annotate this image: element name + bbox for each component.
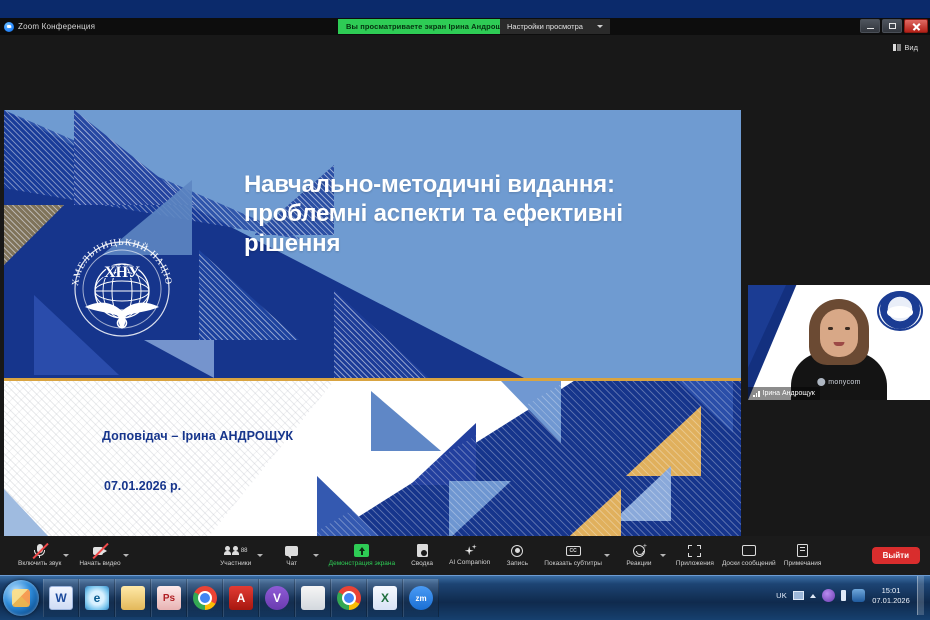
taskbar-item-file-explorer[interactable] (115, 579, 151, 617)
participants-icon: 88 (221, 544, 251, 558)
toolbar-item-apps[interactable]: Приложения (672, 536, 718, 575)
toolbar-label-whiteboards: Доски сообщений (722, 561, 776, 568)
zoom-meeting-window: Zoom Конференция Вы просматриваете экран… (0, 18, 930, 575)
slide-title: Навчально-методичні видання: проблемні а… (244, 170, 724, 258)
toolbar-item-whiteboards[interactable]: Доски сообщений (718, 536, 780, 575)
windows-taskbar: W e Ps A V X zm UK (0, 575, 930, 620)
show-desktop-button[interactable] (917, 576, 924, 615)
toolbar-label-video: Начать видео (79, 561, 120, 568)
view-button-label: Вид (904, 43, 918, 52)
microphone-muted-icon (32, 544, 48, 558)
participants-options-caret-icon[interactable] (257, 554, 263, 557)
clock-time: 15:01 (882, 586, 901, 595)
toolbar-label-captions: Показать субтитры (544, 561, 602, 568)
toolbar-item-share-screen[interactable]: Демонстрация экрана (325, 536, 399, 575)
summary-icon (417, 544, 428, 557)
reactions-options-caret-icon[interactable] (660, 554, 666, 557)
taskbar-item-viber[interactable]: V (259, 579, 295, 617)
chrome-second-icon (337, 586, 361, 610)
clock-date: 07.01.2026 (872, 596, 910, 605)
person-eye-right (845, 327, 850, 330)
toolbar-item-summary[interactable]: Сводка (399, 536, 445, 575)
view-settings-button[interactable]: Настройки просмотра (500, 19, 610, 34)
video-watermark: monycom (817, 378, 860, 386)
shared-screen-slide[interactable]: ХМЕЛЬНИЦЬКИЙ НАЦІОНАЛЬНИЙ УНІВЕРСИТЕТ ХН… (4, 110, 741, 553)
toolbar-label-summary: Сводка (411, 561, 433, 568)
closed-captions-icon: CC (566, 546, 581, 556)
layout-view-icon (893, 44, 901, 51)
captions-options-caret-icon[interactable] (604, 554, 610, 557)
toolbar-label-reactions: Реакции (626, 561, 651, 568)
tray-battery-icon[interactable] (841, 590, 846, 601)
video-muted-icon (92, 544, 108, 558)
toolbar-label-ai-companion: AI Companion (449, 560, 490, 567)
notes-icon (797, 544, 808, 557)
toolbar-item-video[interactable]: Начать видео (75, 536, 124, 575)
keyboard-language-indicator[interactable]: UK (776, 591, 787, 600)
toolbar-item-chat[interactable]: Чат (269, 536, 315, 575)
close-button[interactable] (904, 19, 928, 33)
person-face (820, 309, 858, 357)
slide-speaker-line: Доповідач – Ірина АНДРОЩУК (102, 429, 293, 443)
toolbar-item-reactions[interactable]: + Реакции (616, 536, 662, 575)
leave-meeting-button[interactable]: Выйти (872, 547, 920, 564)
zoom-taskbar-icon: zm (409, 586, 433, 610)
signal-strength-icon (753, 390, 760, 397)
system-tray: UK 15:01 07.01.2026 (776, 576, 930, 615)
hnu-university-logo-icon: ХМЕЛЬНИЦЬКИЙ НАЦІОНАЛЬНИЙ УНІВЕРСИТЕТ ХН… (61, 213, 183, 353)
paint-icon (301, 586, 325, 610)
titlebar-left: Zoom Конференция (0, 22, 95, 32)
toolbar-label-mute: Включить звук (18, 561, 61, 568)
chat-options-caret-icon[interactable] (313, 554, 319, 557)
person-mouth (834, 342, 845, 346)
svg-text:ХНУ: ХНУ (104, 264, 140, 281)
window-title: Zoom Конференция (18, 22, 95, 31)
internet-explorer-icon: e (85, 586, 109, 610)
watermark-dot-icon (817, 378, 825, 386)
toolbar-label-record: Запись (507, 561, 528, 568)
toolbar-item-ai-companion[interactable]: AI Companion (445, 536, 494, 575)
toolbar-label-apps: Приложения (676, 561, 714, 568)
excel-icon: X (373, 586, 397, 610)
slide-date-line: 07.01.2026 р. (104, 479, 181, 493)
slide-lower-panel: Доповідач – Ірина АНДРОЩУК 07.01.2026 р. (4, 381, 741, 553)
ai-sparkle-icon (463, 544, 477, 557)
taskbar-item-chrome[interactable] (187, 579, 223, 617)
video-options-caret-icon[interactable] (123, 554, 129, 557)
video-org-logo-icon (877, 291, 923, 331)
share-screen-icon (354, 544, 369, 557)
taskbar-item-zoom[interactable]: zm (403, 579, 439, 617)
zoom-logo-icon (4, 22, 14, 32)
record-icon (511, 545, 523, 557)
meeting-content-area: Вид (0, 35, 930, 575)
chevron-down-icon (597, 25, 603, 28)
toolbar-label-share-screen: Демонстрация экрана (329, 561, 395, 568)
toolbar-label-chat: Чат (286, 561, 297, 568)
toolbar-item-notes[interactable]: Примечания (780, 536, 826, 575)
toolbar-item-record[interactable]: Запись (494, 536, 540, 575)
taskbar-item-acrobat[interactable]: A (223, 579, 259, 617)
system-clock[interactable]: 15:01 07.01.2026 (871, 586, 911, 605)
whiteboard-icon (742, 545, 756, 556)
toolbar-item-mute[interactable]: Включить звук (14, 536, 65, 575)
word-icon: W (49, 586, 73, 610)
taskbar-item-photoshop[interactable]: Ps (151, 579, 187, 617)
show-hidden-icons-caret-icon[interactable] (810, 594, 816, 598)
tray-box-icon[interactable] (793, 591, 804, 600)
taskbar-item-paint[interactable] (295, 579, 331, 617)
viber-icon: V (265, 586, 289, 610)
view-button[interactable]: Вид (889, 41, 922, 54)
minimize-button[interactable] (860, 19, 880, 33)
taskbar-item-chrome-second[interactable] (331, 579, 367, 617)
slide-triangle-1 (74, 110, 194, 205)
slide-bottom-hatch-overlay (281, 381, 741, 553)
person-eye-left (828, 327, 833, 330)
photoshop-icon: Ps (157, 586, 181, 610)
view-settings-label: Настройки просмотра (507, 22, 583, 31)
taskbar-item-excel[interactable]: X (367, 579, 403, 617)
participant-video-tile[interactable]: monycom Ірина Андрощук (748, 285, 930, 400)
mute-options-caret-icon[interactable] (63, 554, 69, 557)
slide-upper-panel: ХМЕЛЬНИЦЬКИЙ НАЦІОНАЛЬНИЙ УНІВЕРСИТЕТ ХН… (4, 110, 741, 378)
toolbar-label-participants: Участники (220, 561, 251, 568)
apps-icon (688, 545, 701, 557)
toolbar-item-participants[interactable]: 88 Участники (213, 536, 259, 575)
toolbar-label-notes: Примечания (784, 561, 822, 568)
start-button-icon[interactable] (3, 580, 39, 616)
video-name-label: Ірина Андрощук (748, 387, 820, 400)
taskbar-app-list: W e Ps A V X zm (43, 579, 439, 618)
tray-viber-icon[interactable] (822, 589, 835, 602)
taskbar-item-word[interactable]: W (43, 579, 79, 617)
chrome-icon (193, 586, 217, 610)
participants-count: 88 (241, 548, 248, 554)
window-titlebar: Zoom Конференция Вы просматриваете экран… (0, 18, 930, 35)
watermark-text: monycom (828, 379, 860, 386)
meeting-toolbar: Включить звук Начать видео (0, 536, 930, 575)
tray-network-icon[interactable] (852, 589, 865, 602)
adobe-acrobat-icon: A (229, 586, 253, 610)
reactions-icon: + (633, 545, 645, 557)
participant-name: Ірина Андрощук (763, 390, 815, 397)
toolbar-item-captions[interactable]: CC Показать субтитры (540, 536, 606, 575)
slide-bottom-triangle-2 (371, 391, 441, 451)
chat-icon (285, 546, 298, 556)
taskbar-item-internet-explorer[interactable]: e (79, 579, 115, 617)
slide-gray-pattern (4, 381, 334, 553)
maximize-button[interactable] (882, 19, 902, 33)
window-controls (860, 19, 928, 33)
file-explorer-icon (121, 586, 145, 610)
screen-share-banner: Вы просматриваете экран Ірина Андрощук (338, 19, 518, 34)
